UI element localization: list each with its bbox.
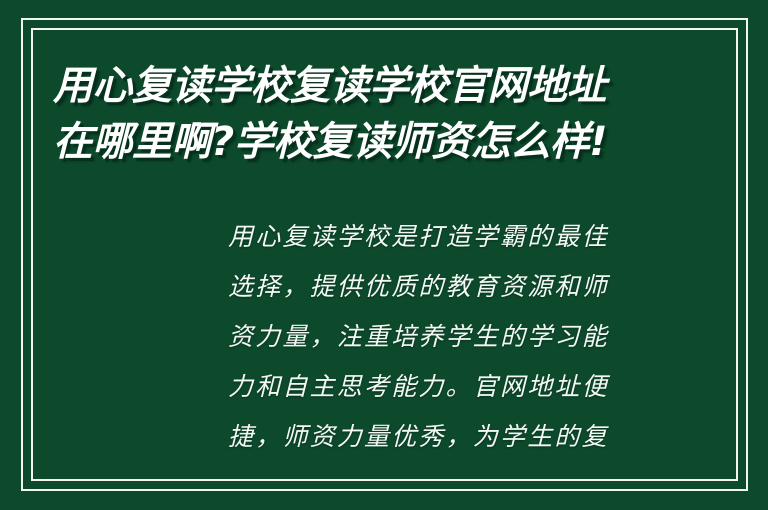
body-line-1: 用心复读学校是打造学霸的最佳 — [228, 212, 646, 262]
headline-block: 用心复读学校复读学校官网地址 在哪里啊?学校复读师资怎么样! — [53, 58, 653, 170]
body-line-5: 捷，师资力量优秀，为学生的复 — [228, 412, 646, 462]
body-text-block: 用心复读学校是打造学霸的最佳 选择，提供优质的教育资源和师 资力量，注重培养学生… — [228, 212, 646, 462]
body-line-2: 选择，提供优质的教育资源和师 — [228, 262, 646, 312]
body-line-3: 资力量，注重培养学生的学习能 — [228, 312, 646, 362]
body-line-4: 力和自主思考能力。官网地址便 — [228, 362, 646, 412]
headline-line-2: 在哪里啊?学校复读师资怎么样! — [53, 114, 653, 170]
headline-line-1: 用心复读学校复读学校官网地址 — [53, 58, 653, 114]
poster-canvas: 用心复读学校复读学校官网地址 在哪里啊?学校复读师资怎么样! 用心复读学校是打造… — [0, 0, 768, 510]
